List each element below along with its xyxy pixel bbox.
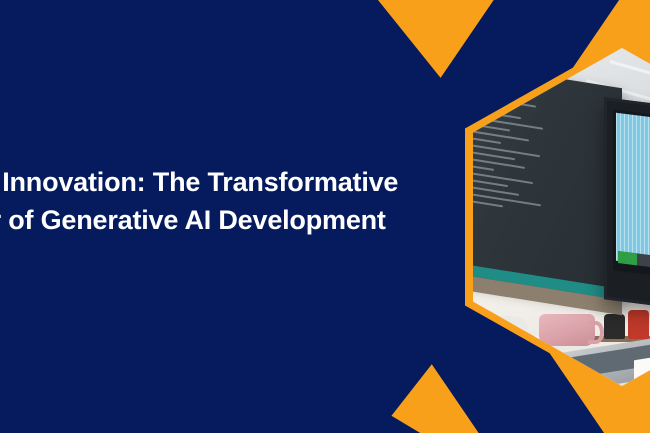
code-minimap xyxy=(616,113,650,266)
right-monitor xyxy=(604,97,650,322)
editor-status-bar xyxy=(618,251,650,282)
banner-title-block: ing Innovation: The Transformative wer o… xyxy=(0,163,455,240)
banner-title-line-2: wer of Generative AI Development xyxy=(0,201,455,239)
blog-banner: ing Innovation: The Transformative wer o… xyxy=(0,0,650,433)
pink-mug xyxy=(539,314,596,345)
desk-figurine xyxy=(604,314,625,339)
banner-title-line-1: ing Innovation: The Transformative xyxy=(0,163,455,201)
status-segment xyxy=(618,251,638,265)
desk-figurine xyxy=(628,310,649,340)
right-monitor-screen xyxy=(613,109,650,291)
